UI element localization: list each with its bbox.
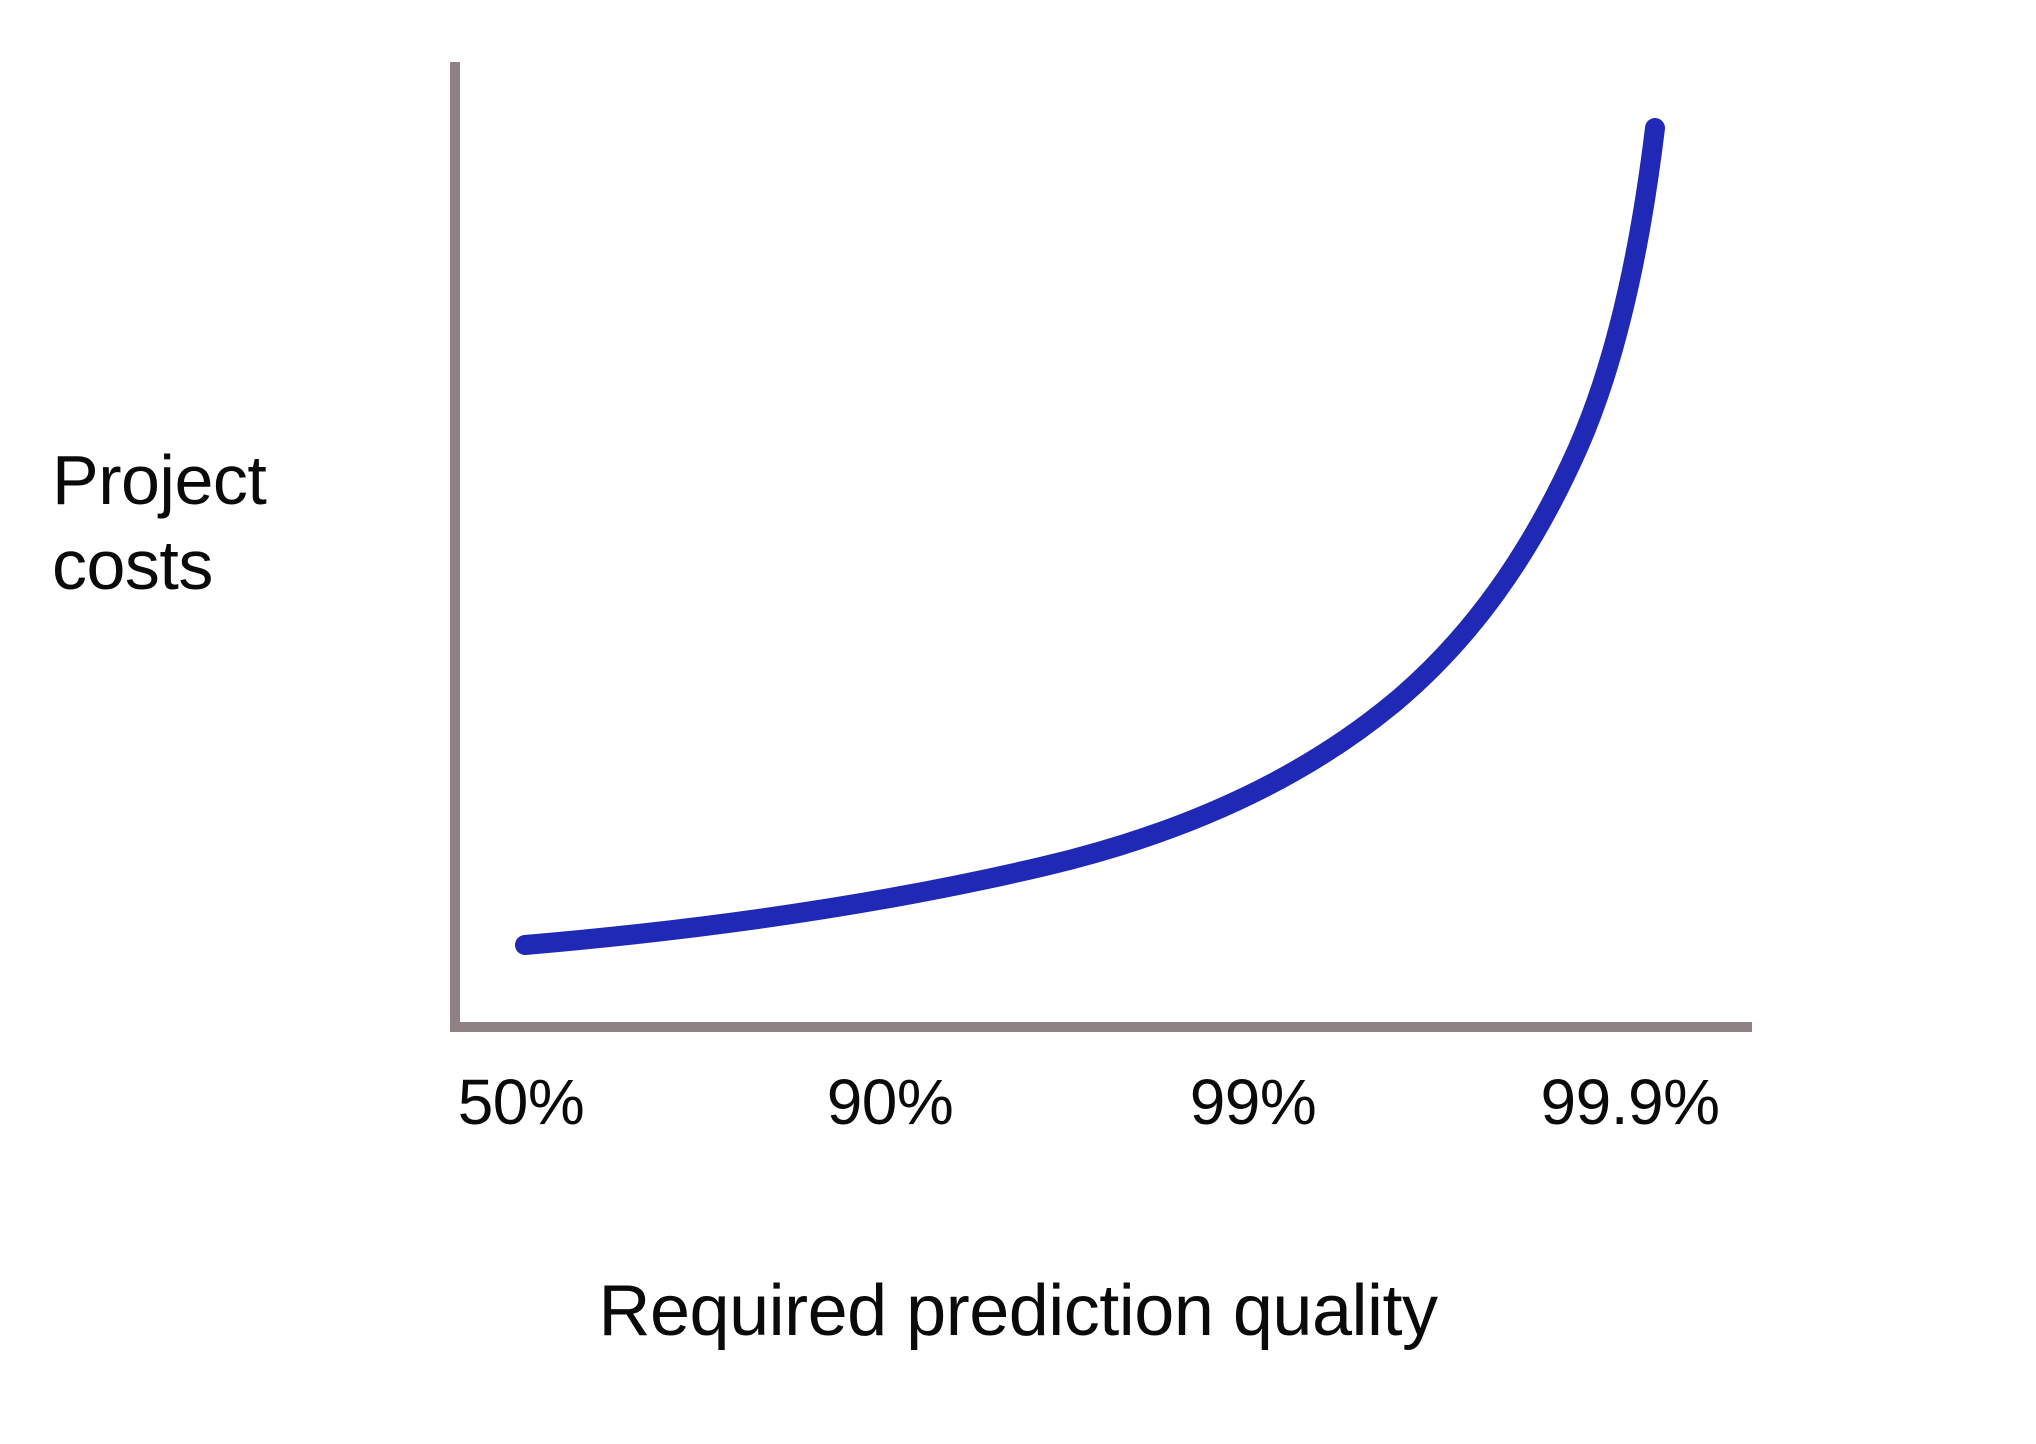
chart-figure: Project costs 50% 90% 99% 99.9% Required…: [0, 0, 2036, 1444]
y-axis-label: Project costs: [52, 438, 412, 609]
x-tick-label-99: 99%: [1190, 1070, 1317, 1134]
x-tick-label-999: 99.9%: [1541, 1070, 1720, 1134]
chart-canvas: [0, 0, 2036, 1444]
x-axis-title: Required prediction quality: [0, 1272, 2036, 1351]
plot-area: Project costs 50% 90% 99% 99.9% Required…: [0, 0, 2036, 1444]
x-tick-label-90: 90%: [827, 1070, 954, 1134]
x-tick-label-50: 50%: [458, 1070, 585, 1134]
cost-curve-line: [525, 128, 1655, 945]
